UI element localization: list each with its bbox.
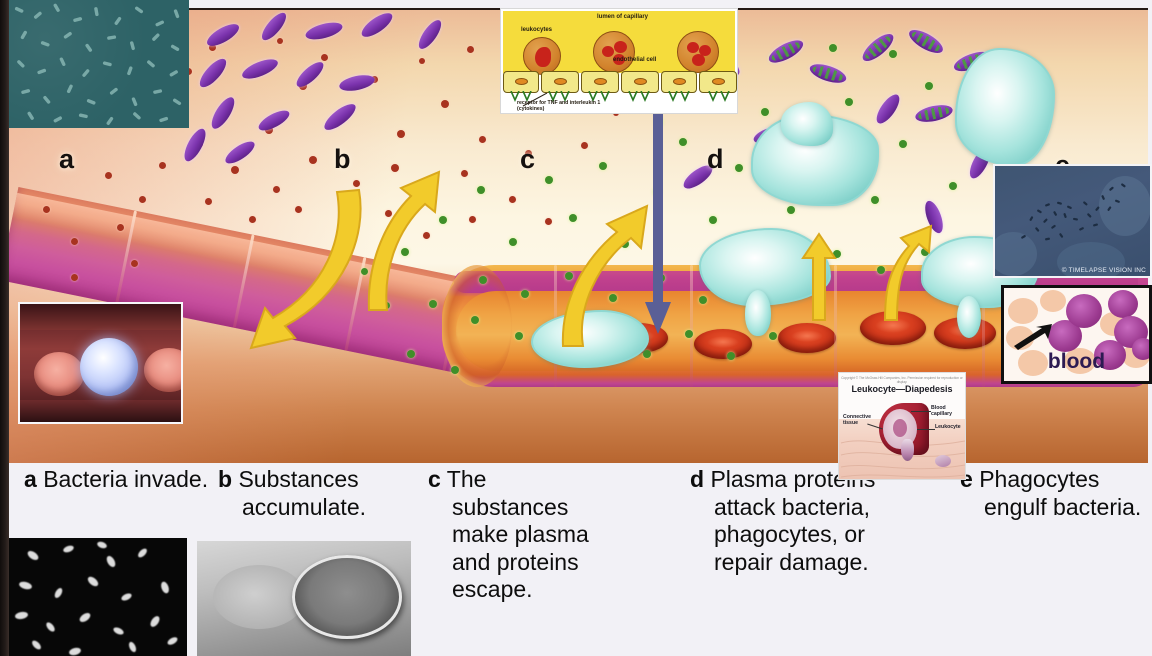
caption-a-letter: a xyxy=(24,466,37,492)
leukocyte-diapedesis-diagram: Copyright © The McGraw-Hill Companies, I… xyxy=(838,372,966,480)
capillary-lumen-label: lumen of capillary xyxy=(597,14,648,21)
blood-smear-micrograph: blood xyxy=(1001,285,1152,384)
red-blood-cell xyxy=(694,329,752,359)
bacterial-colony-micrograph xyxy=(197,541,411,656)
red-blood-cell-render xyxy=(34,352,84,396)
white-blood-cell xyxy=(80,338,138,396)
caption-a: a Bacteria invade. xyxy=(24,466,210,494)
caption-d: d Plasma proteins attack bacteria, phago… xyxy=(690,466,920,576)
slide-canvas: a b c d e xyxy=(0,0,1152,656)
stage-label-b: b xyxy=(334,144,351,175)
caption-a-text: Bacteria invade. xyxy=(43,466,208,492)
red-blood-cell xyxy=(778,323,836,353)
receptor-label: receptor for TNF and interleukin 1 (cyto… xyxy=(517,101,603,113)
connective-tissue-label: Connective tissue xyxy=(843,415,869,427)
diapedesis-copyright: Copyright © The McGraw-Hill Companies, I… xyxy=(839,376,965,384)
white-blood-cell-stained xyxy=(1108,290,1138,318)
timelapse-credit: © TIMELAPSE VISION INC xyxy=(1062,267,1146,274)
leukocyte-shape xyxy=(901,439,914,461)
caption-b-text: Substances accumulate. xyxy=(238,466,366,520)
caption-b-letter: b xyxy=(218,466,232,492)
arrow-blue-downward xyxy=(645,112,671,334)
red-blood-cell-render xyxy=(144,348,183,392)
phase-contrast-bacteria-micrograph: © TIMELAPSE VISION INC xyxy=(993,164,1152,278)
diapedesis-title: Leukocyte—Diapedesis xyxy=(839,384,965,394)
caption-c-letter: c xyxy=(428,466,441,492)
left-edge-strip xyxy=(0,0,9,656)
phagocyte-pseudopod xyxy=(745,290,771,336)
caption-c: c The substances make plasma and protein… xyxy=(428,466,604,604)
endothelial-cell-label: endothelial cell xyxy=(613,57,656,64)
white-blood-cell-render xyxy=(18,302,183,424)
bacteria-lawn-micrograph xyxy=(9,0,189,128)
white-blood-cell-stained xyxy=(1066,294,1102,328)
darkfield-bacteria-micrograph xyxy=(9,538,187,656)
blood-smear-label: blood xyxy=(1004,350,1149,374)
caption-e: e Phagocytes engulf bacteria. xyxy=(960,466,1152,521)
arrow-protein-up-right xyxy=(875,226,935,322)
phagocyte-engulfing xyxy=(955,48,1055,166)
arrow-plasma-escape-down-left xyxy=(241,186,391,366)
smooth-colony xyxy=(292,555,402,639)
caption-d-letter: d xyxy=(690,466,704,492)
leukocyte-shape xyxy=(935,455,951,467)
capillary-leukocyte-diagram: lumen of capillary leukocytes xyxy=(500,8,738,114)
endothelium-layer xyxy=(503,67,735,93)
leukocytes-label: leukocytes xyxy=(521,27,552,34)
phagocyte xyxy=(781,102,833,146)
blood-capillary-label: Blood capillary xyxy=(931,406,961,418)
phagocyte-pseudopod xyxy=(957,296,981,338)
caption-c-text: The substances make plasma and proteins … xyxy=(447,466,589,602)
caption-b: b Substances accumulate. xyxy=(218,466,414,521)
arrow-protein-up-center xyxy=(795,232,843,322)
leukocyte-label: Leukocyte xyxy=(935,425,961,431)
stage-label-d: d xyxy=(707,144,724,175)
stage-label-a: a xyxy=(59,144,74,175)
stage-label-c: c xyxy=(520,144,535,175)
caption-e-text: Phagocytes engulf bacteria. xyxy=(979,466,1141,520)
caption-d-text: Plasma proteins attack bacteria, phagocy… xyxy=(710,466,875,575)
